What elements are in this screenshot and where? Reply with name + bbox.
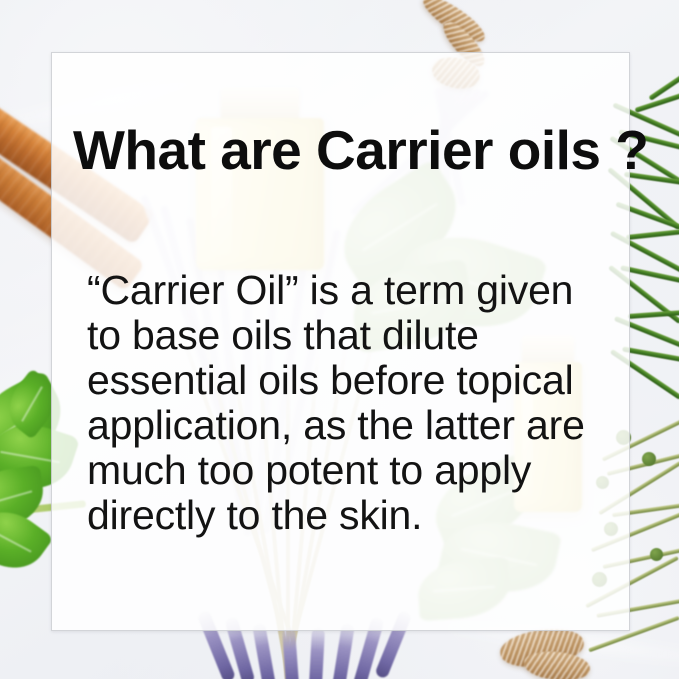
lavender-flower-head xyxy=(309,628,325,679)
body-line: “Carrier Oil” is a term given xyxy=(87,268,617,313)
body-line: application, as the latter are xyxy=(87,403,617,448)
leaf-vein xyxy=(0,490,32,507)
leaf-vein xyxy=(21,386,43,422)
body-paragraph: “Carrier Oil” is a term given to base oi… xyxy=(87,268,617,538)
body-line: to base oils that dilute xyxy=(87,313,617,358)
body-line: much too potent to apply xyxy=(87,448,617,493)
body-line: essential oils before topical xyxy=(87,358,617,403)
leaf-vein xyxy=(0,527,32,552)
thyme-bud xyxy=(650,548,663,561)
carrier-oils-infographic: What are Carrier oils ? “Carrier Oil” is… xyxy=(0,0,679,679)
page-title: What are Carrier oils ? xyxy=(73,122,613,179)
thyme-bud xyxy=(642,452,656,466)
body-line: directly to the skin. xyxy=(87,493,617,538)
